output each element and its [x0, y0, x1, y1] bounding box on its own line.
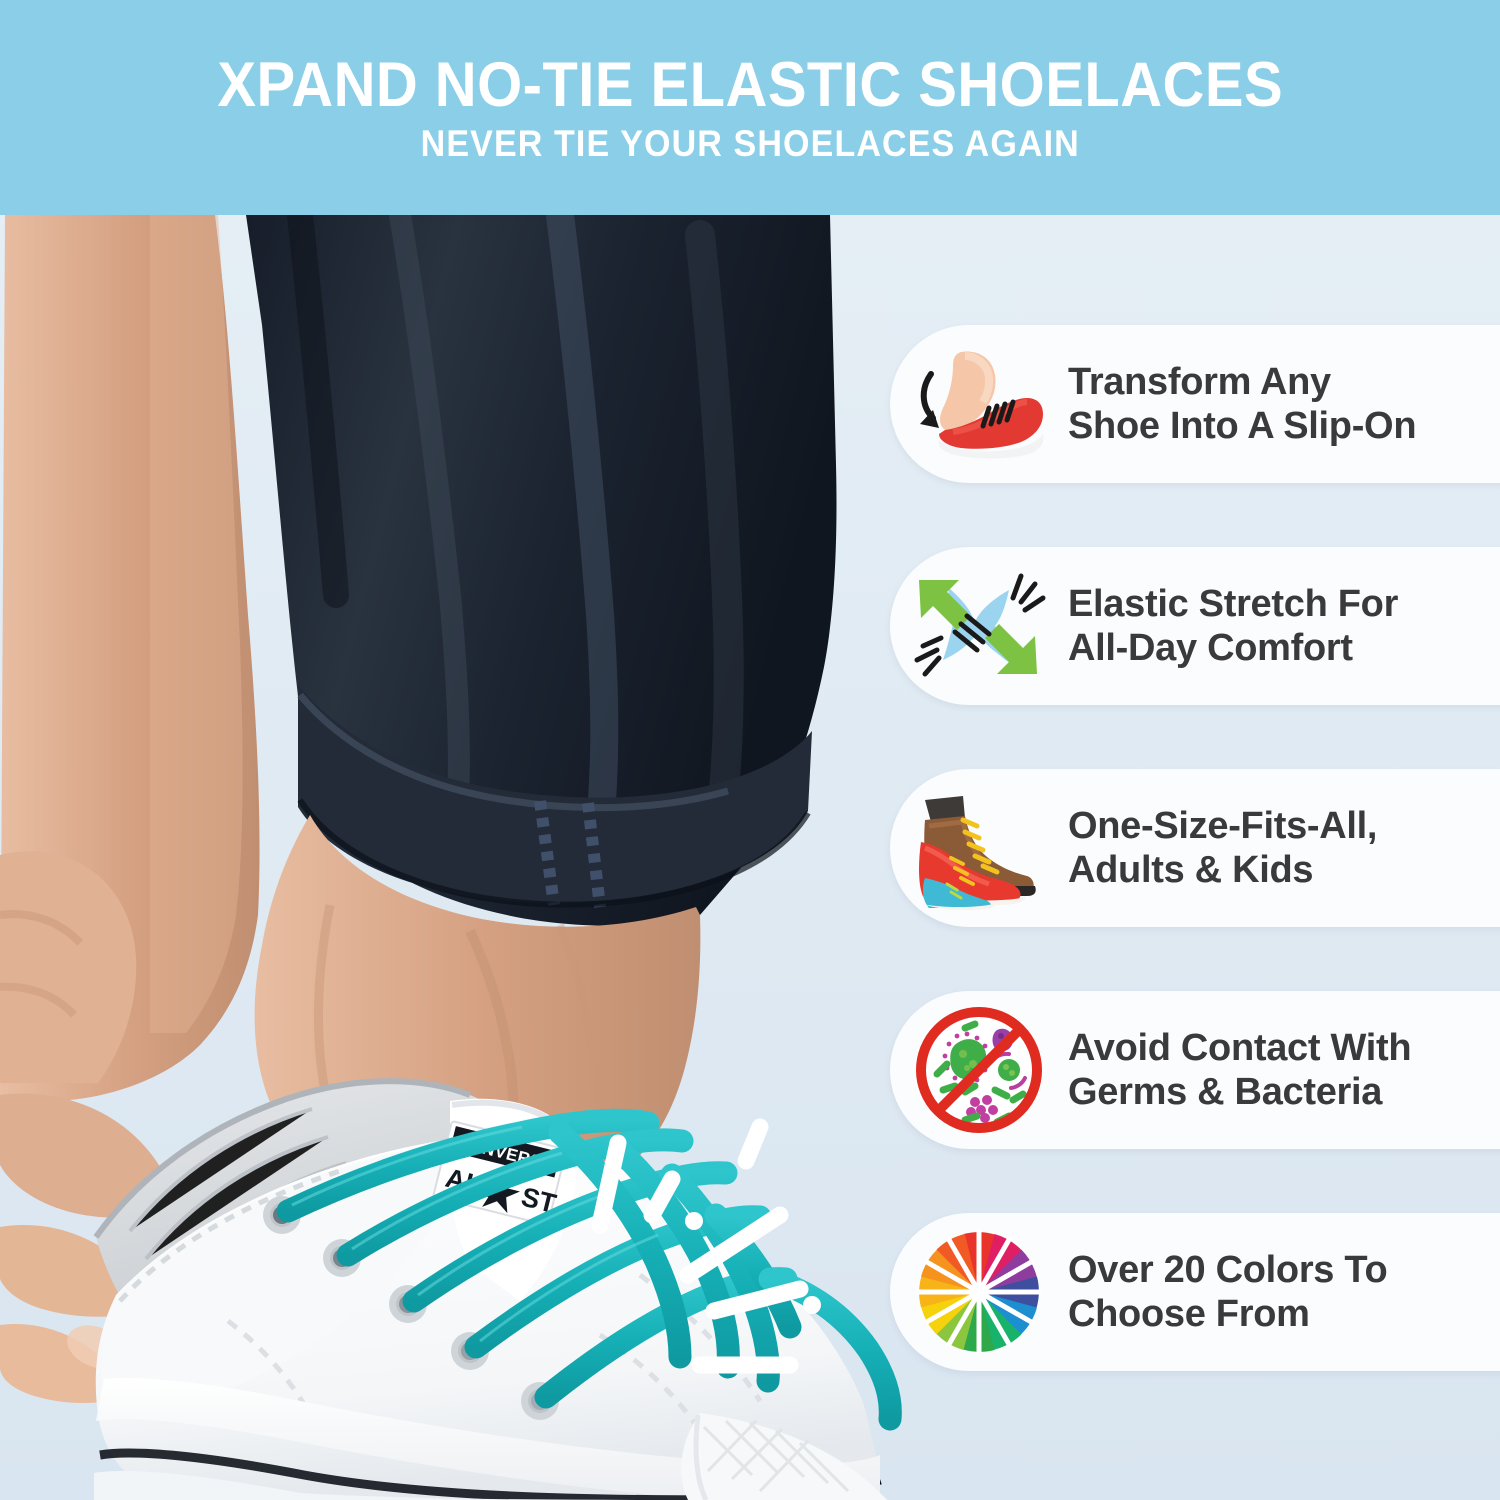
- feature-line-1: Transform Any: [1068, 361, 1331, 403]
- feature-text: Avoid Contact With Germs & Bacteria: [1068, 1026, 1411, 1114]
- page-title: XPAND NO-TIE ELASTIC SHOELACES: [217, 54, 1283, 117]
- foot-into-shoe-icon: [904, 339, 1054, 469]
- page-subtitle: NEVER TIE YOUR SHOELACES AGAIN: [420, 125, 1079, 162]
- feature-line-1: Over 20 Colors To: [1068, 1249, 1387, 1291]
- feature-text: Over 20 Colors To Choose From: [1068, 1248, 1387, 1336]
- feature-text: Elastic Stretch For All-Day Comfort: [1068, 582, 1398, 670]
- feature-text: Transform Any Shoe Into A Slip-On: [1068, 360, 1416, 448]
- feature-text: One-Size-Fits-All, Adults & Kids: [1068, 804, 1377, 892]
- color-wheel-icon: [904, 1227, 1054, 1357]
- product-infographic: XPAND NO-TIE ELASTIC SHOELACES NEVER TIE…: [0, 0, 1500, 1500]
- feature-line-2: Choose From: [1068, 1292, 1387, 1336]
- feature-line-2: Germs & Bacteria: [1068, 1070, 1411, 1114]
- elastic-stretch-arrows-icon: [904, 561, 1054, 691]
- color-wheel-segments: [913, 1226, 1045, 1358]
- feature-card-one-size[interactable]: One-Size-Fits-All, Adults & Kids: [890, 769, 1500, 927]
- header-banner: XPAND NO-TIE ELASTIC SHOELACES NEVER TIE…: [0, 0, 1500, 215]
- feature-card-colors[interactable]: Over 20 Colors To Choose From: [890, 1213, 1500, 1371]
- feature-card-elastic-stretch[interactable]: Elastic Stretch For All-Day Comfort: [890, 547, 1500, 705]
- no-germs-icon: [904, 1005, 1054, 1135]
- feature-card-transform-shoe[interactable]: Transform Any Shoe Into A Slip-On: [890, 325, 1500, 483]
- feature-line-1: Avoid Contact With: [1068, 1027, 1411, 1069]
- three-shoes-icon: [904, 783, 1054, 913]
- feature-line-2: Shoe Into A Slip-On: [1068, 404, 1416, 448]
- feature-line-2: All-Day Comfort: [1068, 626, 1398, 670]
- feature-card-avoid-germs[interactable]: Avoid Contact With Germs & Bacteria: [890, 991, 1500, 1149]
- feature-line-1: Elastic Stretch For: [1068, 583, 1398, 625]
- feature-line-2: Adults & Kids: [1068, 848, 1377, 892]
- feature-line-1: One-Size-Fits-All,: [1068, 805, 1377, 847]
